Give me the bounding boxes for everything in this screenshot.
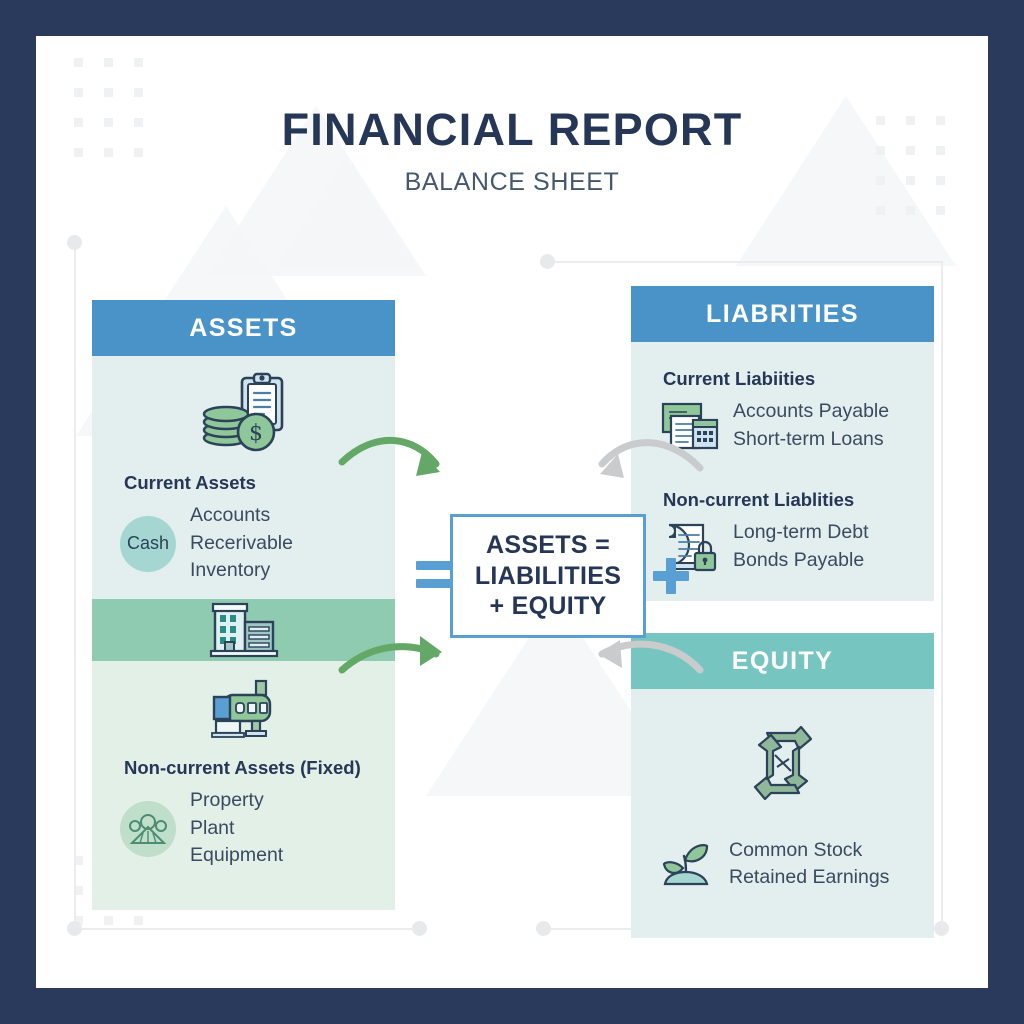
list-item: Plant [190, 815, 283, 843]
frame-dot-bottom-mid-right [536, 921, 551, 936]
invoice-calendar-icon [661, 400, 719, 452]
list-item: Short-term Loans [733, 426, 889, 454]
frame-line-right [941, 262, 943, 928]
coins-clipboard-icon: $ [92, 356, 395, 466]
list-item: Common Stock [729, 837, 889, 865]
list-item: Accounts Payable [733, 398, 889, 426]
accounting-equation-box: ASSETS = LIABILITIES + EQUITY [450, 514, 646, 638]
current-assets-list: Accounts Recerivable Inventory [190, 502, 293, 585]
noncurrent-assets-panel: Non-current Assets (Fixed) [92, 661, 395, 910]
list-item: Recerivable [190, 530, 293, 558]
page-title: FINANCIAL REPORT [36, 104, 988, 156]
equity-header: EQUITY [631, 633, 934, 689]
equals-symbol [416, 561, 454, 597]
assets-column: ASSETS [92, 300, 395, 910]
current-assets-title: Current Assets [92, 466, 395, 502]
current-assets-panel: $ Current Assets Cash Accounts Recerivab… [92, 356, 395, 599]
plus-symbol [653, 558, 689, 594]
noncurrent-liabilities-title: Non-current Liablities [631, 459, 934, 519]
equity-items: Common Stock Retained Earnings [631, 831, 934, 898]
liabilities-equity-column: LIABRITIES Current Liabiities [631, 286, 934, 938]
equation-line-3: + EQUITY [489, 592, 606, 620]
page-subtitle: BALANCE SHEET [36, 168, 988, 197]
list-item: Equipment [190, 842, 283, 870]
office-building-icon [92, 599, 395, 661]
svg-text:$: $ [249, 421, 263, 446]
frame-line-top-right [548, 261, 943, 263]
liabilities-header: LIABRITIES [631, 286, 934, 342]
list-item: Property [190, 787, 283, 815]
frame-dot-bottom-left [67, 921, 82, 936]
equation-line-2: LIABILITIES [475, 562, 621, 590]
list-item: Retained Earnings [729, 864, 889, 892]
list-item: Bonds Payable [733, 547, 868, 575]
accounting-equation-text: ASSETS = LIABILITIES + EQUITY [475, 530, 621, 622]
sprout-icon [657, 838, 715, 890]
handshake-cycle-icon [631, 689, 934, 831]
noncurrent-liabilities-list: Long-term Debt Bonds Payable [733, 519, 868, 574]
poster-header: FINANCIAL REPORT BALANCE SHEET [36, 104, 988, 197]
equation-line-1: ASSETS = [486, 531, 610, 559]
list-item: Long-term Debt [733, 519, 868, 547]
current-assets-items: Cash Accounts Recerivable Inventory [92, 502, 395, 599]
equity-panel: Common Stock Retained Earnings [631, 689, 934, 938]
assets-header: ASSETS [92, 300, 395, 356]
frame-dot-bottom-mid-left [412, 921, 427, 936]
frame-dot-top-left [67, 235, 82, 250]
current-liabilities-list: Accounts Payable Short-term Loans [733, 398, 889, 453]
poster-canvas: FINANCIAL REPORT BALANCE SHEET ASSETS [36, 36, 988, 988]
noncurrent-assets-title: Non-current Assets (Fixed) [92, 751, 395, 787]
noncurrent-assets-list: Property Plant Equipment [190, 787, 283, 870]
frame-line-left [74, 250, 76, 928]
noncurrent-assets-items: Property Plant Equipment [92, 787, 395, 884]
equity-list: Common Stock Retained Earnings [729, 837, 889, 892]
poster-root: FINANCIAL REPORT BALANCE SHEET ASSETS [0, 0, 1024, 1024]
frame-line-bottom-left [82, 928, 412, 930]
list-item: Inventory [190, 557, 293, 585]
current-liabilities-title: Current Liabiities [631, 342, 934, 398]
cash-badge: Cash [120, 516, 176, 572]
current-liabilities-items: Accounts Payable Short-term Loans [631, 398, 934, 459]
frame-dot-top-right [540, 254, 555, 269]
machinery-icon [92, 661, 395, 751]
property-icon [120, 801, 176, 857]
list-item: Accounts [190, 502, 293, 530]
